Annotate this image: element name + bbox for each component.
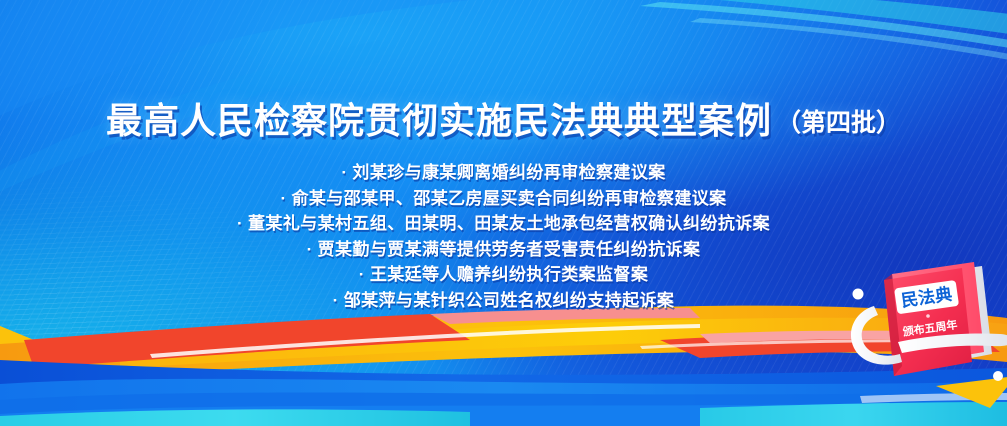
title-suffix: （第四批） [776,109,901,137]
bullet-icon: · [280,189,286,208]
bullet-icon: · [307,240,313,259]
title-main: 最高人民检察院贯彻实施民法典典型案例 [106,100,772,141]
case-title: 贾某勤与贾某满等提供劳务者受害责任纠纷抗诉案 [318,240,701,259]
banner: 民法典 颁布五周年 最高人民检察院贯彻实施民法典典型案例（第四批） ·刘某珍与康… [0,0,1007,426]
case-title: 刘某珍与康某卿离婚纠纷再审检察建议案 [352,163,665,182]
bullet-icon: · [359,265,365,284]
list-item[interactable]: ·王某廷等人赡养纠纷执行类案监督案 [0,262,1007,288]
list-item[interactable]: ·刘某珍与康某卿离婚纠纷再审检察建议案 [0,160,1007,186]
list-item[interactable]: ·董某礼与某村五组、田某明、田某友土地承包经营权确认纠纷抗诉案 [0,211,1007,237]
page-title: 最高人民检察院贯彻实施民法典典型案例（第四批） [0,92,1007,144]
case-title: 董某礼与某村五组、田某明、田某友土地承包经营权确认纠纷抗诉案 [248,214,770,233]
banner-content: 最高人民检察院贯彻实施民法典典型案例（第四批） ·刘某珍与康某卿离婚纠纷再审检察… [0,0,1007,426]
bullet-icon: · [341,163,347,182]
list-item[interactable]: ·俞某与邵某甲、邵某乙房屋买卖合同纠纷再审检察建议案 [0,186,1007,212]
case-title: 邹某萍与某针织公司姓名权纠纷支持起诉案 [344,291,675,310]
case-title: 王某廷等人赡养纠纷执行类案监督案 [370,265,648,284]
list-item[interactable]: ·贾某勤与贾某满等提供劳务者受害责任纠纷抗诉案 [0,237,1007,263]
bullet-icon: · [333,291,339,310]
case-title: 俞某与邵某甲、邵某乙房屋买卖合同纠纷再审检察建议案 [292,189,727,208]
case-list: ·刘某珍与康某卿离婚纠纷再审检察建议案 ·俞某与邵某甲、邵某乙房屋买卖合同纠纷再… [0,160,1007,313]
list-item[interactable]: ·邹某萍与某针织公司姓名权纠纷支持起诉案 [0,288,1007,314]
bullet-icon: · [237,214,243,233]
